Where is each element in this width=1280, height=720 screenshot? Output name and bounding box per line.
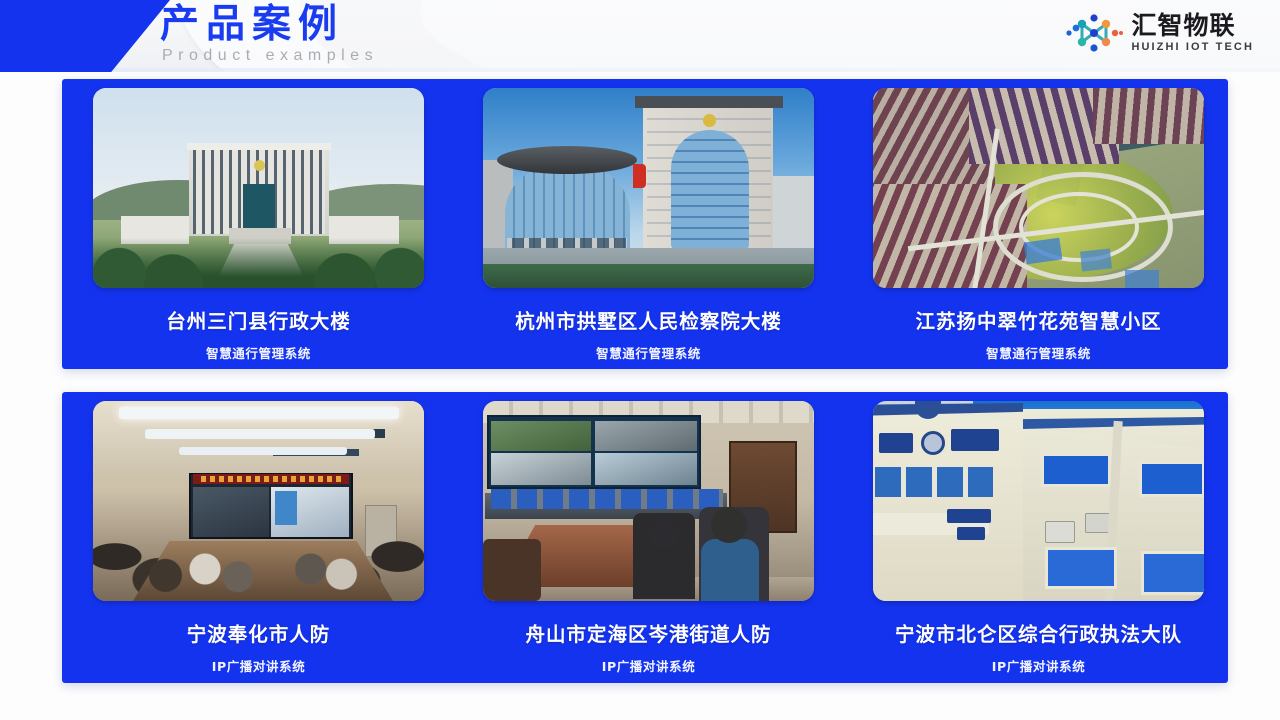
- case-card-subtitle: IP广播对讲系统: [483, 656, 814, 675]
- case-card-subtitle: IP广播对讲系统: [873, 656, 1204, 675]
- case-panel-top: 台州三门县行政大楼 智慧通行管理系统 杭州市拱墅区人民检察院大楼 智慧通行管理系…: [62, 79, 1228, 369]
- case-card-title: 江苏扬中翠竹花苑智慧小区: [873, 305, 1204, 334]
- slide-root: 产品案例 Product examples: [0, 0, 1280, 720]
- slide-header: 产品案例 Product examples: [0, 0, 1280, 72]
- logo-name-cn: 汇智物联: [1131, 13, 1254, 38]
- ningbo-beilun-law-enforcement-building-photo: [873, 401, 1204, 601]
- logo-text-group: 汇智物联 HUIZHI IOT TECH: [1131, 13, 1254, 53]
- page-title: 产品案例: [160, 2, 760, 48]
- jiangsu-yangzhong-cuizhu-community-aerial-photo: [873, 88, 1204, 288]
- case-card[interactable]: 台州三门县行政大楼 智慧通行管理系统: [93, 88, 424, 369]
- case-card[interactable]: 江苏扬中翠竹花苑智慧小区 智慧通行管理系统: [873, 88, 1204, 369]
- case-card-subtitle: 智慧通行管理系统: [483, 343, 814, 362]
- brand-logo: 汇智物联 HUIZHI IOT TECH: [1065, 12, 1254, 54]
- case-card-title: 宁波市北仑区综合行政执法大队: [873, 618, 1204, 647]
- case-card[interactable]: 杭州市拱墅区人民检察院大楼 智慧通行管理系统: [483, 88, 814, 369]
- taizhou-sanmen-government-building-photo: [93, 88, 424, 288]
- case-card-title: 宁波奉化市人防: [93, 618, 424, 647]
- header-bottom-accent-line: [0, 68, 1280, 72]
- case-card-subtitle: 智慧通行管理系统: [93, 343, 424, 362]
- header-blue-band: [0, 0, 170, 72]
- case-card-row-top: 台州三门县行政大楼 智慧通行管理系统 杭州市拱墅区人民检察院大楼 智慧通行管理系…: [62, 79, 1228, 369]
- case-card-title: 舟山市定海区岑港街道人防: [483, 618, 814, 647]
- page-subtitle: Product examples: [162, 46, 760, 66]
- case-card-row-bottom: 宁波奉化市人防 IP广播对讲系统 舟山: [62, 392, 1228, 683]
- case-card[interactable]: 宁波市北仑区综合行政执法大队 IP广播对讲系统: [873, 401, 1204, 683]
- ningbo-fenghua-civil-defense-conference-room-photo: [93, 401, 424, 601]
- hangzhou-gongshu-procuratorate-building-photo: [483, 88, 814, 288]
- case-card-subtitle: 智慧通行管理系统: [873, 343, 1204, 362]
- case-card-title: 台州三门县行政大楼: [93, 305, 424, 334]
- header-title-group: 产品案例 Product examples: [160, 2, 760, 66]
- molecule-network-icon: [1065, 12, 1123, 54]
- case-card-subtitle: IP广播对讲系统: [93, 656, 424, 675]
- zhoushan-dinghai-cengang-control-room-photo: [483, 401, 814, 601]
- case-card[interactable]: 舟山市定海区岑港街道人防 IP广播对讲系统: [483, 401, 814, 683]
- case-card[interactable]: 宁波奉化市人防 IP广播对讲系统: [93, 401, 424, 683]
- case-panel-bottom: 宁波奉化市人防 IP广播对讲系统 舟山: [62, 392, 1228, 683]
- logo-name-en: HUIZHI IOT TECH: [1131, 42, 1254, 53]
- case-card-title: 杭州市拱墅区人民检察院大楼: [483, 305, 814, 334]
